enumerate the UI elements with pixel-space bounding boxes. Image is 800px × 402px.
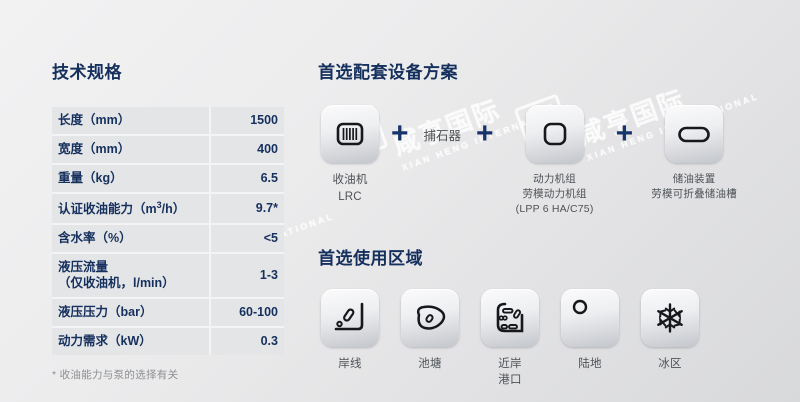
- equipment-label: 动力机组 劳模动力机组 (LPP 6 HA/C75): [516, 172, 594, 218]
- plus-icon: +: [607, 105, 643, 163]
- shoreline-tile[interactable]: [321, 289, 379, 347]
- right-column: 首选配套设备方案: [318, 58, 758, 389]
- spec-value: 1500: [210, 107, 284, 135]
- area-item-pond[interactable]: 池塘: [398, 289, 462, 373]
- oil-tank-tile[interactable]: [665, 105, 723, 163]
- spec-label: 宽度（mm）: [52, 135, 210, 164]
- spec-label: 动力需求（kW）: [52, 327, 210, 355]
- spec-value: 6.5: [210, 164, 284, 193]
- table-row: 动力需求（kW） 0.3: [52, 327, 284, 355]
- specs-title: 技术规格: [52, 58, 284, 83]
- ice-snowflake-icon: [654, 302, 686, 334]
- table-row: 长度（mm） 1500: [52, 107, 284, 135]
- area-item-harbor[interactable]: 近岸 港口: [478, 289, 542, 389]
- power-unit-tile[interactable]: [526, 105, 584, 163]
- table-row: 含水率（%） <5: [52, 224, 284, 253]
- area-label: 陆地: [578, 356, 601, 373]
- areas-row: 岸线 池塘: [318, 289, 758, 389]
- harbor-tile[interactable]: [481, 289, 539, 347]
- skimmer-drum-icon: [335, 119, 365, 149]
- specs-footnote: * 收油能力与泵的选择有关: [52, 367, 284, 382]
- spec-label: 液压流量 （仅收油机，l/min）: [52, 253, 210, 299]
- harbor-icon: [492, 301, 528, 335]
- area-label: 近岸 港口: [498, 356, 521, 389]
- spec-label: 重量（kg）: [52, 164, 210, 193]
- table-row: 宽度（mm） 400: [52, 135, 284, 164]
- oil-tank-icon: [677, 122, 711, 146]
- equipment-label: 储油装置 劳模可折叠储油槽: [651, 172, 737, 202]
- plus-icon: +: [382, 105, 418, 163]
- spec-label: 认证收油能力（m3/h）: [52, 193, 210, 224]
- equipment-item-oil-tank[interactable]: 储油装置 劳模可折叠储油槽: [642, 105, 746, 202]
- spec-label: 长度（mm）: [52, 107, 210, 135]
- area-label: 冰区: [658, 356, 681, 373]
- land-icon: [572, 299, 588, 315]
- area-item-land[interactable]: 陆地: [558, 289, 622, 373]
- area-label: 池塘: [418, 356, 441, 373]
- pond-tile[interactable]: [401, 289, 459, 347]
- ice-tile[interactable]: [641, 289, 699, 347]
- spec-label: 含水率（%）: [52, 224, 210, 253]
- equipment-item-stone-catcher: 捕石器: [418, 105, 468, 163]
- land-tile[interactable]: [561, 289, 619, 347]
- spec-value: 1-3: [210, 253, 284, 299]
- spec-sheet-page: 技术规格 长度（mm） 1500 宽度（mm） 400 重量（kg） 6.5 认…: [0, 0, 800, 402]
- spec-label: 液压压力（bar）: [52, 298, 210, 327]
- areas-title: 首选使用区域: [318, 244, 758, 269]
- skimmer-tile[interactable]: [321, 105, 379, 163]
- area-item-shoreline[interactable]: 岸线: [318, 289, 382, 373]
- specs-table-body: 长度（mm） 1500 宽度（mm） 400 重量（kg） 6.5 认证收油能力…: [52, 107, 284, 355]
- equipment-row: 收油机 LRC + 捕石器 + 动力机组 劳模动力机组 (LPP 6 HA/C7…: [318, 105, 758, 218]
- table-row: 液压压力（bar） 60-100: [52, 298, 284, 327]
- equipment-label: 收油机 LRC: [332, 172, 367, 205]
- table-row: 液压流量 （仅收油机，l/min） 1-3: [52, 253, 284, 299]
- power-unit-icon: [541, 120, 569, 148]
- spec-value: 9.7*: [210, 193, 284, 224]
- spec-value: 60-100: [210, 298, 284, 327]
- plus-icon: +: [467, 105, 503, 163]
- spec-value: <5: [210, 224, 284, 253]
- equipment-item-power-unit[interactable]: 动力机组 劳模动力机组 (LPP 6 HA/C75): [503, 105, 607, 218]
- table-row: 重量（kg） 6.5: [52, 164, 284, 193]
- table-row: 认证收油能力（m3/h） 9.7*: [52, 193, 284, 224]
- equipment-item-skimmer[interactable]: 收油机 LRC: [318, 105, 382, 205]
- area-label: 岸线: [338, 356, 361, 373]
- spec-value: 0.3: [210, 327, 284, 355]
- technical-specifications-section: 技术规格 长度（mm） 1500 宽度（mm） 400 重量（kg） 6.5 认…: [52, 58, 284, 382]
- pond-icon: [412, 303, 448, 333]
- equipment-title: 首选配套设备方案: [318, 58, 758, 83]
- area-item-ice[interactable]: 冰区: [638, 289, 702, 373]
- shoreline-icon: [333, 301, 367, 335]
- spec-value: 400: [210, 135, 284, 164]
- specs-table: 长度（mm） 1500 宽度（mm） 400 重量（kg） 6.5 认证收油能力…: [52, 107, 284, 355]
